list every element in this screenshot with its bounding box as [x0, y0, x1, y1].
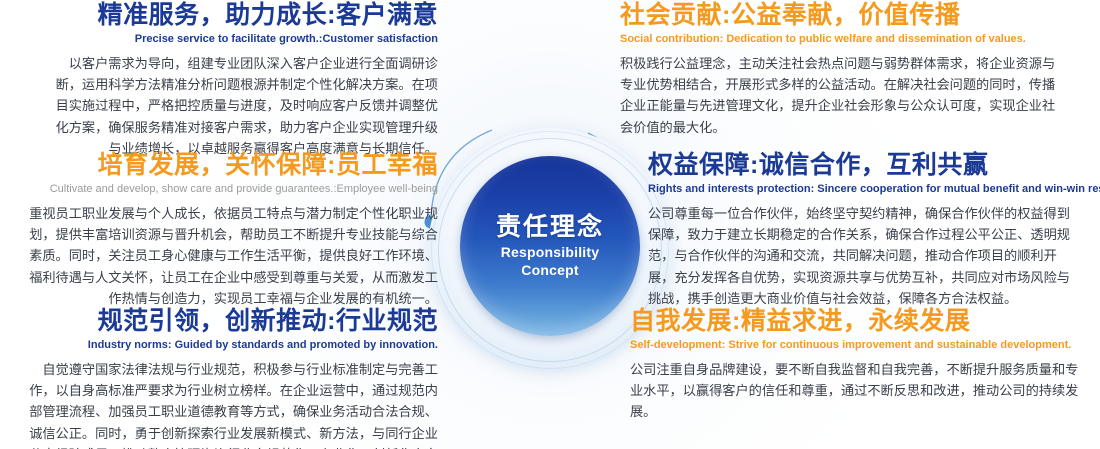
section-body: 公司尊重每一位合作伙伴，始终坚守契约精神，确保合作伙伴的权益得到保障，致力于建立…: [648, 203, 1080, 310]
section-body: 重视员工职业发展与个人成长，依据员工特点与潜力制定个性化职业规划，提供丰富培训资…: [24, 203, 438, 310]
section-body: 积极践行公益理念，主动关注社会热点问题与弱势群体需求，将企业资源与专业优势相结合…: [620, 53, 1068, 139]
emblem-title-en-line1: Responsibility: [501, 244, 599, 262]
section-customer-satisfaction: 精准服务，助力成长:客户满意 Precise service to facili…: [46, 2, 438, 160]
infographic-canvas: 责任理念 Responsibility Concept 精准服务，助力成长:客户…: [0, 0, 1100, 449]
section-subtitle: Self-development: Strive for continuous …: [630, 339, 1080, 352]
emblem-title-en: Responsibility Concept: [501, 244, 599, 279]
section-employee-well-being: 培育发展，关怀保障:员工幸福 Cultivate and develop, sh…: [24, 152, 438, 310]
section-subtitle: Rights and interests protection: Sincere…: [648, 183, 1080, 196]
section-body: 公司注重自身品牌建设，要不断自我监督和自我完善，不断提升服务质量和专业水平，以赢…: [630, 359, 1080, 423]
section-title: 权益保障:诚信合作，互利共赢: [648, 152, 1080, 180]
section-body: 以客户需求为导向，组建专业团队深入客户企业进行全面调研诊断，运用科学方法精准分析…: [46, 53, 438, 160]
emblem-title-en-line2: Concept: [501, 262, 599, 280]
section-body: 自觉遵守国家法律法规与行业规范，积极参与行业标准制定与完善工作，以自身高标准严要…: [24, 359, 438, 449]
section-title: 自我发展:精益求进，永续发展: [630, 308, 1080, 336]
emblem-core-circle: 责任理念 Responsibility Concept: [460, 156, 640, 336]
section-subtitle: Social contribution: Dedication to publi…: [620, 33, 1068, 46]
section-title: 培育发展，关怀保障:员工幸福: [24, 152, 438, 180]
section-industry-norms: 规范引领，创新推动:行业规范 Industry norms: Guided by…: [24, 308, 438, 449]
emblem-title-cn: 责任理念: [496, 213, 604, 242]
section-social-contribution: 社会贡献:公益奉献，价值传播 Social contribution: Dedi…: [620, 2, 1068, 138]
section-subtitle: Cultivate and develop, show care and pro…: [24, 183, 438, 196]
section-title: 社会贡献:公益奉献，价值传播: [620, 2, 1068, 30]
section-title: 规范引领，创新推动:行业规范: [24, 308, 438, 336]
section-rights-protection: 权益保障:诚信合作，互利共赢 Rights and interests prot…: [648, 152, 1080, 310]
section-subtitle: Industry norms: Guided by standards and …: [24, 339, 438, 352]
section-self-development: 自我发展:精益求进，永续发展 Self-development: Strive …: [630, 308, 1080, 423]
section-title: 精准服务，助力成长:客户满意: [46, 2, 438, 30]
section-subtitle: Precise service to facilitate growth.:Cu…: [46, 33, 438, 46]
